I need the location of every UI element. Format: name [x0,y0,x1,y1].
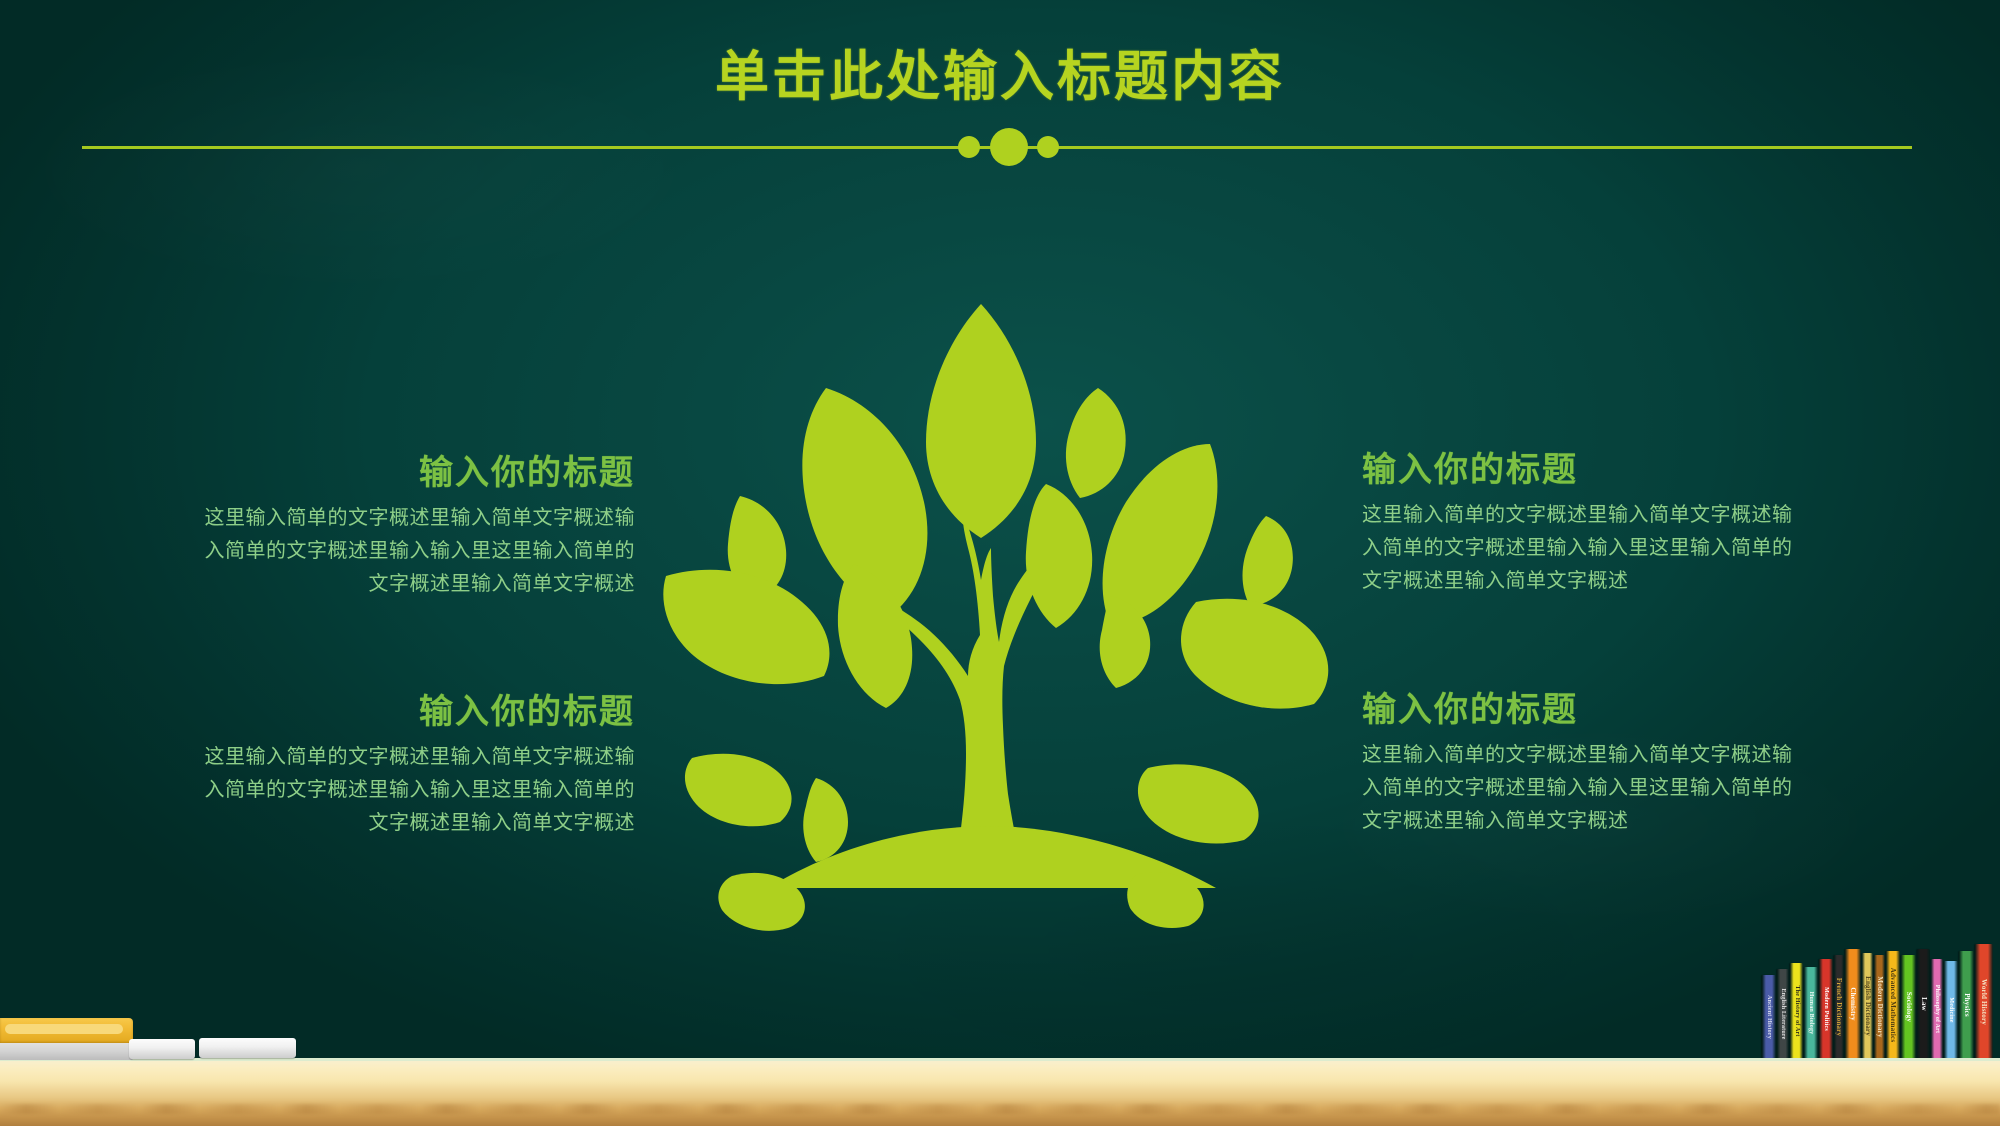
text-block-heading[interactable]: 输入你的标题 [185,455,635,492]
book-spine[interactable]: Law [1917,949,1930,1059]
book-spine[interactable]: Human Biology [1804,967,1818,1059]
book-title: Sociology [1905,992,1913,1022]
chalk-ledge [0,1058,2000,1126]
chalk-stick-icon[interactable] [199,1038,296,1058]
wood-grain [0,1104,2000,1114]
page-title[interactable]: 单击此处输入标题内容 [0,32,2000,111]
book-title: Chemistry [1849,987,1857,1020]
book-spine[interactable]: The History of Art [1790,963,1803,1059]
eraser-felt [0,1040,133,1060]
book-spine[interactable]: World History [1975,944,1993,1059]
text-block-heading[interactable]: 输入你的标题 [1362,452,1812,489]
book-title: Medicine [1948,997,1954,1022]
text-block-bottom-left[interactable]: 输入你的标题 这里输入简单的文字概述里输入简单文字概述输入简单的文字概述里输入输… [185,694,635,840]
slide-canvas: 单击此处输入标题内容 [0,0,2000,1126]
book-title: Ancient History [1766,995,1772,1039]
book-title: Philosophy of Art [1934,985,1940,1033]
book-title: English Literature [1780,989,1786,1040]
book-title: Advanced Mathematics [1889,968,1897,1043]
text-block-body[interactable]: 这里输入简单的文字概述里输入简单文字概述输入简单的文字概述里输入输入里这里输入简… [1362,739,1812,838]
eraser-handle [0,1018,133,1043]
book-spine[interactable]: Modern Politics [1819,959,1833,1059]
book-title: Modern Dictionary [1876,976,1884,1037]
text-block-heading[interactable]: 输入你的标题 [185,694,635,731]
text-block-body[interactable]: 这里输入简单的文字概述里输入简单文字概述输入简单的文字概述里输入输入里这里输入简… [185,502,635,601]
book-spine[interactable]: Modern Dictionary [1874,955,1885,1059]
tree-illustration [650,280,1350,1050]
book-spine[interactable]: Chemistry [1845,949,1861,1059]
blackboard-eraser-icon[interactable] [0,1018,133,1060]
book-title: English Dictionary [1864,976,1872,1036]
book-spine[interactable]: Sociology [1901,955,1916,1059]
book-title: Physics [1963,993,1971,1017]
book-title: The History of Art [1794,985,1800,1036]
book-title: Modern Politics [1823,987,1829,1031]
book-title: Law [1920,997,1928,1011]
divider [82,145,1912,150]
divider-dot-right-icon [1037,136,1059,158]
book-spine[interactable]: Ancient History [1762,975,1776,1059]
book-title: World History [1980,979,1988,1025]
divider-dot-center-icon [990,128,1028,166]
book-spine[interactable]: Advanced Mathematics [1886,951,1900,1059]
bookshelf: Ancient HistoryEnglish LiteratureThe His… [1762,944,2000,1059]
book-spine[interactable]: Medicine [1944,961,1958,1059]
book-title: Human Biology [1808,992,1814,1035]
book-spine[interactable]: English Literature [1777,969,1789,1059]
text-block-top-right[interactable]: 输入你的标题 这里输入简单的文字概述里输入简单文字概述输入简单的文字概述里输入输… [1362,452,1812,598]
text-block-top-left[interactable]: 输入你的标题 这里输入简单的文字概述里输入简单文字概述输入简单的文字概述里输入输… [185,455,635,601]
text-block-bottom-right[interactable]: 输入你的标题 这里输入简单的文字概述里输入简单文字概述输入简单的文字概述里输入输… [1362,692,1812,838]
text-block-body[interactable]: 这里输入简单的文字概述里输入简单文字概述输入简单的文字概述里输入输入里这里输入简… [1362,499,1812,598]
book-spine[interactable]: English Dictionary [1862,953,1873,1059]
book-spine[interactable]: French Dictionary [1834,955,1844,1059]
text-block-heading[interactable]: 输入你的标题 [1362,692,1812,729]
divider-dot-left-icon [958,136,980,158]
text-block-body[interactable]: 这里输入简单的文字概述里输入简单文字概述输入简单的文字概述里输入输入里这里输入简… [185,741,635,840]
book-title: French Dictionary [1835,978,1843,1036]
book-spine[interactable]: Physics [1959,951,1974,1059]
book-spine[interactable]: Philosophy of Art [1931,959,1943,1059]
chalk-stick-icon[interactable] [129,1039,195,1059]
